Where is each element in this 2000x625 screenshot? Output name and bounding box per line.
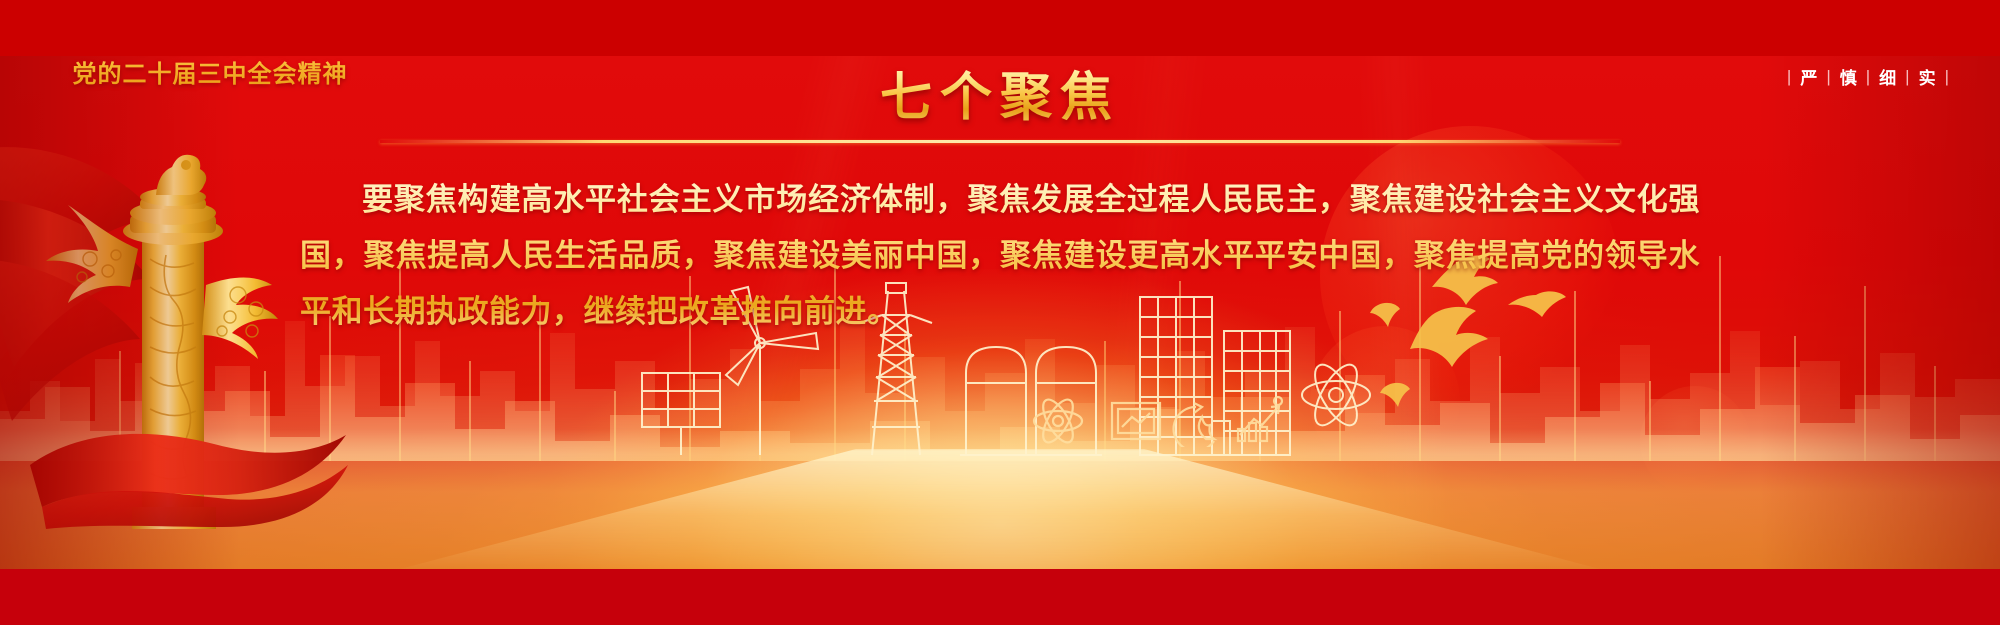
bottom-red-band xyxy=(0,569,2000,625)
page-title: 七个聚焦 xyxy=(0,55,2000,130)
body-paragraph: 要聚焦构建高水平社会主义市场经济体制，聚焦发展全过程人民民主，聚焦建设社会主义文… xyxy=(300,172,1700,339)
gold-divider xyxy=(380,140,1620,143)
propaganda-banner: 学习宣传贯彻 党的二十届三中全会精神 中广核 CGN xyxy=(0,0,2000,625)
text-layer: 学习宣传贯彻 党的二十届三中全会精神 中广核 CGN xyxy=(0,0,2000,625)
top-red-band xyxy=(0,0,2000,56)
